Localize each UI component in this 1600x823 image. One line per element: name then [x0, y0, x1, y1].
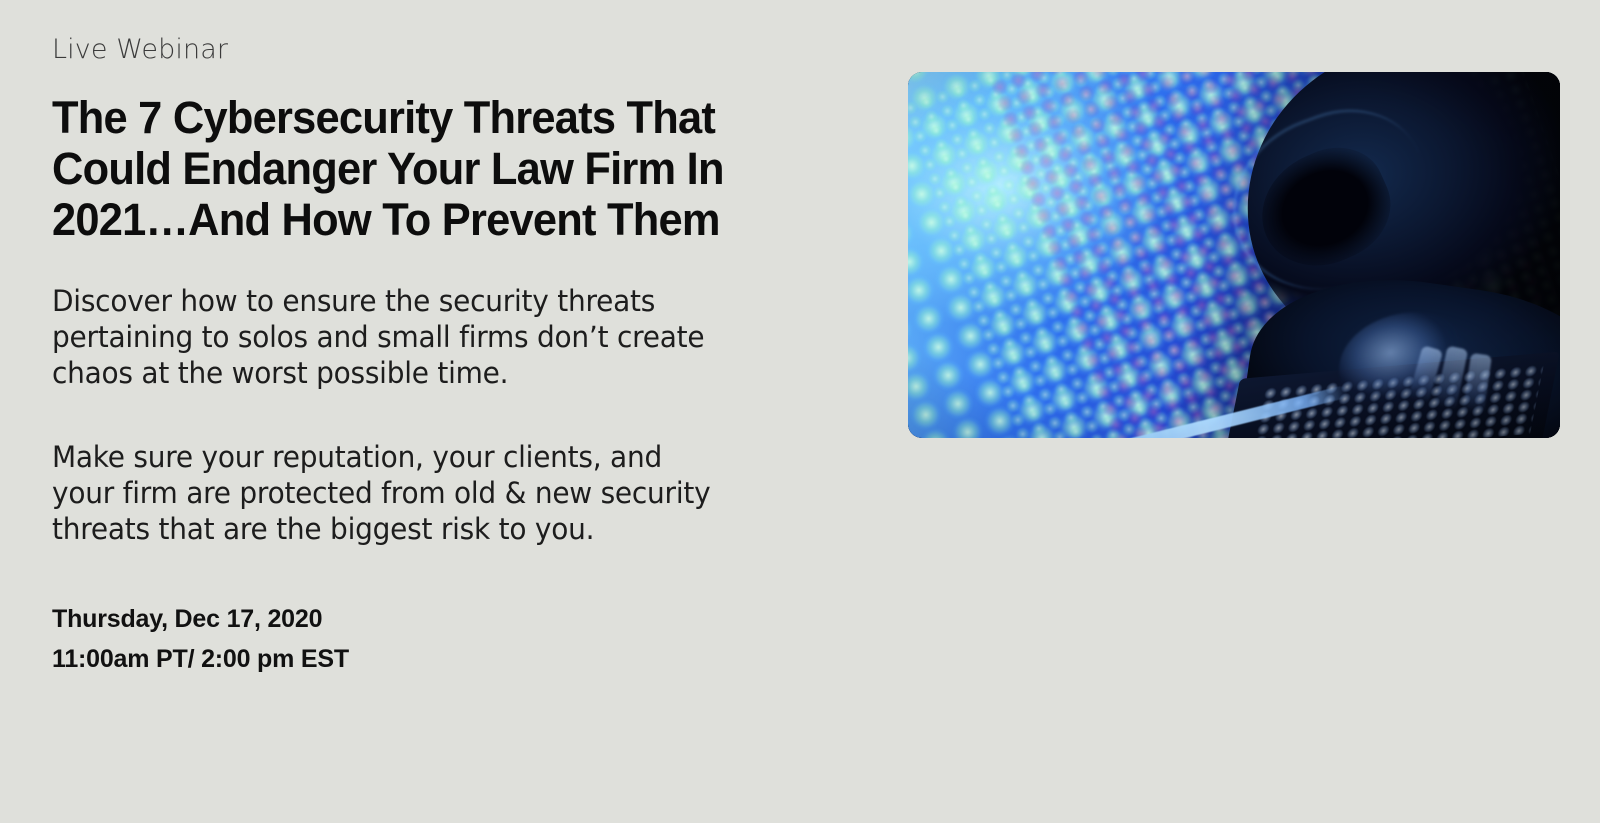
- eyebrow-label: Live Webinar: [52, 34, 812, 66]
- page-title: The 7 Cybersecurity Threats That Could E…: [52, 92, 728, 245]
- description-paragraph-1: Discover how to ensure the security thre…: [52, 283, 728, 391]
- schedule-date: Thursday, Dec 17, 2020: [52, 599, 812, 639]
- hacker-photo: [908, 72, 1560, 438]
- schedule-time: 11:00am PT/ 2:00 pm EST: [52, 639, 812, 679]
- photo-vignette: [908, 72, 1560, 438]
- promo-description: Discover how to ensure the security thre…: [52, 283, 812, 547]
- schedule-block: Thursday, Dec 17, 2020 11:00am PT/ 2:00 …: [52, 599, 812, 679]
- hero-image: [908, 72, 1560, 438]
- promo-text-column: Live Webinar The 7 Cybersecurity Threats…: [52, 34, 812, 679]
- description-paragraph-2: Make sure your reputation, your clients,…: [52, 439, 728, 547]
- webinar-promo-page: Live Webinar The 7 Cybersecurity Threats…: [0, 0, 1600, 823]
